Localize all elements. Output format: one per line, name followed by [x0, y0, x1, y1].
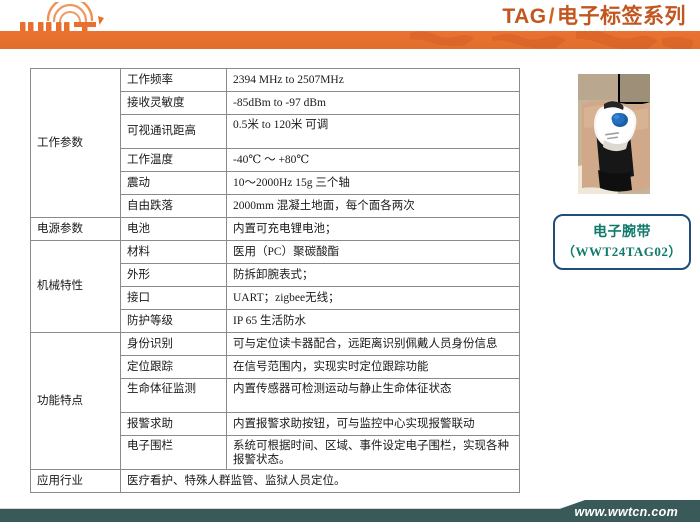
- param-name-cell: 可视通讯距高: [121, 115, 227, 149]
- param-value-cell: 2394 MHz to 2507MHz: [227, 69, 520, 92]
- param-value-cell: 系统可根据时间、区域、事件设定电子围栏，实现各种报警状态。: [227, 436, 520, 470]
- param-value-cell: 可与定位读卡器配合，远距离识别佩戴人员身份信息: [227, 333, 520, 356]
- page-title-sub: 电子标签系列: [557, 5, 686, 28]
- param-name-cell: 电子围栏: [121, 436, 227, 470]
- param-name-cell: 定位跟踪: [121, 356, 227, 379]
- table-row: 电源参数 电池 内置可充电锂电池；: [31, 218, 520, 241]
- header-orange-band: [0, 31, 700, 49]
- table-row: 功能特点 身份识别 可与定位读卡器配合，远距离识别佩戴人员身份信息: [31, 333, 520, 356]
- param-value-cell: -85dBm to -97 dBm: [227, 92, 520, 115]
- page-title-main: TAG: [502, 5, 546, 28]
- param-name-cell: 自由跌落: [121, 195, 227, 218]
- category-cell: 功能特点: [31, 333, 121, 470]
- category-cell: 电源参数: [31, 218, 121, 241]
- param-name-cell: 外形: [121, 264, 227, 287]
- param-name-cell: 报警求助: [121, 413, 227, 436]
- param-value-cell: 10～2000Hz 15g 三个轴: [227, 172, 520, 195]
- param-value-cell: 2000mm 混凝土地面，每个面各两次: [227, 195, 520, 218]
- page-title-separator: /: [547, 5, 557, 28]
- specification-table: 工作参数 工作频率 2394 MHz to 2507MHz 接收灵敏度 -85d…: [30, 68, 520, 493]
- world-map-texture-icon: [400, 31, 700, 49]
- param-name-cell: 生命体征监测: [121, 379, 227, 413]
- category-cell: 机械特性: [31, 241, 121, 333]
- table-row: 机械特性 材料 医用（PC）聚碳酸酯: [31, 241, 520, 264]
- param-value-cell: 内置传感器可检测运动与静止生命体征状态: [227, 379, 520, 413]
- param-value-cell: 防拆卸腕表式；: [227, 264, 520, 287]
- param-name-cell: 防护等级: [121, 310, 227, 333]
- param-value-cell: 医用（PC）聚碳酸酯: [227, 241, 520, 264]
- product-caption-box: 电子腕带 （WWT24TAG02）: [553, 214, 691, 270]
- param-value-cell: -40℃ ～ +80℃: [227, 149, 520, 172]
- param-value-cell: 0.5米 to 120米 可调: [227, 115, 520, 149]
- param-name-cell: 电池: [121, 218, 227, 241]
- param-name-cell: 工作频率: [121, 69, 227, 92]
- page-title: TAG/电子标签系列: [502, 3, 686, 31]
- param-value-cell: 在信号范围内，实现实时定位跟踪功能: [227, 356, 520, 379]
- electronic-wristband-photo-image: [578, 74, 650, 194]
- table-row: 应用行业 医疗看护、特殊人群监管、监狱人员定位。: [31, 470, 520, 493]
- param-name-cell: 身份识别: [121, 333, 227, 356]
- param-name-cell: 接口: [121, 287, 227, 310]
- param-value-cell: 医疗看护、特殊人群监管、监狱人员定位。: [121, 470, 520, 493]
- category-cell: 工作参数: [31, 69, 121, 218]
- product-photo: [578, 74, 650, 194]
- param-value-cell: 内置可充电锂电池；: [227, 218, 520, 241]
- product-caption-name: 电子腕带: [593, 224, 651, 243]
- product-caption-model: （WWT24TAG02）: [562, 243, 682, 261]
- param-name-cell: 接收灵敏度: [121, 92, 227, 115]
- page-header: TAG/电子标签系列: [0, 0, 700, 52]
- param-name-cell: 工作温度: [121, 149, 227, 172]
- param-value-cell: UART；zigbee无线；: [227, 287, 520, 310]
- param-value-cell: 内置报警求助按钮，可与监控中心实现报警联动: [227, 413, 520, 436]
- category-cell: 应用行业: [31, 470, 121, 493]
- table-row: 工作参数 工作频率 2394 MHz to 2507MHz: [31, 69, 520, 92]
- param-value-cell: IP 65 生活防水: [227, 310, 520, 333]
- footer-website-url[interactable]: www.wwtcn.com: [575, 505, 678, 519]
- param-name-cell: 震动: [121, 172, 227, 195]
- param-name-cell: 材料: [121, 241, 227, 264]
- page-footer: www.wwtcn.com: [0, 497, 700, 525]
